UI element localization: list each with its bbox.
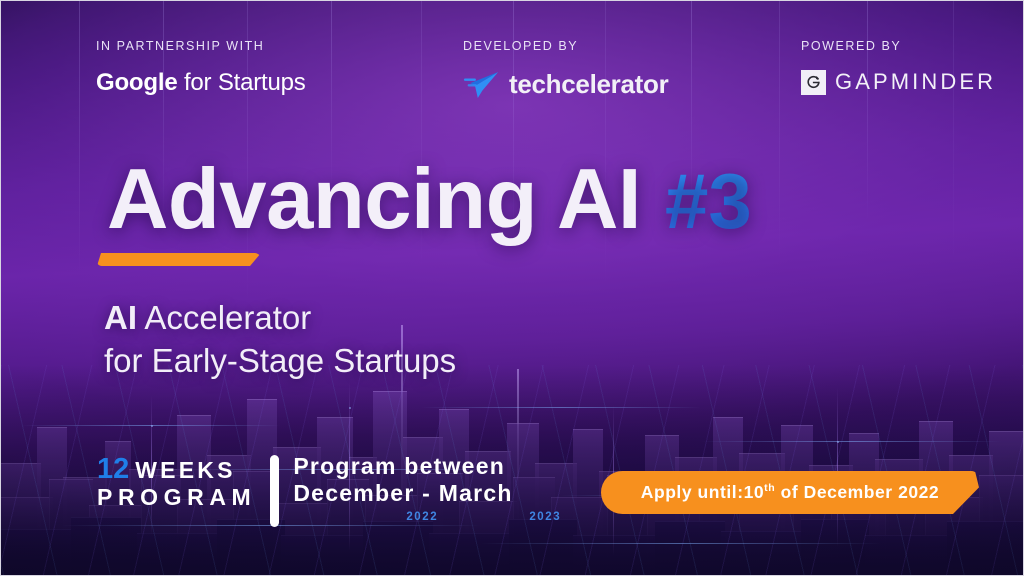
- gapminder-g-badge: [801, 70, 826, 95]
- schedule-line-2: December - March: [293, 480, 512, 507]
- google-for-startups-logo: Google for Startups: [96, 69, 306, 97]
- gapminder-wordmark: GAPMINDER: [835, 69, 996, 95]
- duration-number: 12: [97, 453, 129, 485]
- subtitle-accelerator: Accelerator: [144, 299, 311, 336]
- cta-suffix: of December 2022: [781, 482, 940, 502]
- partner-kicker: IN PARTNERSHIP WITH: [96, 39, 306, 53]
- orange-accent-bar: [97, 253, 261, 266]
- page-title: Advancing AI #3: [107, 157, 752, 242]
- techcelerator-paper-plane-icon: [463, 70, 500, 100]
- program-duration: 12WEEKS PROGRAM: [97, 453, 256, 527]
- subtitle-line-2: for Early-Stage Startups: [104, 340, 456, 383]
- partner-google-for-startups: IN PARTNERSHIP WITH Google for Startups: [96, 39, 306, 97]
- subtitle-line-1: AI Accelerator: [104, 297, 456, 340]
- apply-deadline-text: Apply until:10th of December 2022: [641, 482, 939, 503]
- google-wordmark: Google: [96, 69, 177, 96]
- schedule-line-1: Program between: [293, 453, 512, 480]
- program-details: 12WEEKS PROGRAM Program between December…: [97, 453, 513, 527]
- techcelerator-wordmark: techcelerator: [509, 69, 668, 100]
- duration-label: PROGRAM: [97, 485, 256, 511]
- advancing-ai-promo-banner: IN PARTNERSHIP WITH Google for Startups …: [0, 0, 1024, 576]
- gapminder-g-icon: [804, 73, 823, 92]
- hero-subtitle: AI Accelerator for Early-Stage Startups: [104, 297, 456, 383]
- cta-prefix: Apply until:10: [641, 482, 764, 502]
- partner-techcelerator: DEVELOPED BY techcelerator: [463, 39, 668, 100]
- vertical-divider: [270, 455, 279, 527]
- hero-edition-badge: #3: [665, 162, 752, 240]
- apply-deadline-banner[interactable]: Apply until:10th of December 2022: [601, 471, 979, 514]
- end-year: 2023: [529, 511, 561, 524]
- duration-unit: WEEKS: [135, 457, 235, 483]
- program-schedule: Program between December - March 2022 20…: [293, 453, 512, 527]
- cta-ordinal: th: [764, 482, 775, 494]
- start-year: 2022: [406, 511, 438, 524]
- partner-gapminder: POWERED BY GAPMINDER: [801, 39, 996, 95]
- partner-kicker: DEVELOPED BY: [463, 39, 668, 53]
- partner-logo-header: IN PARTNERSHIP WITH Google for Startups …: [1, 1, 1023, 119]
- for-startups-wordmark: for Startups: [184, 69, 306, 96]
- partner-kicker: POWERED BY: [801, 39, 996, 53]
- subtitle-ai-strong: AI: [104, 299, 137, 336]
- hero-title: Advancing AI: [107, 157, 641, 242]
